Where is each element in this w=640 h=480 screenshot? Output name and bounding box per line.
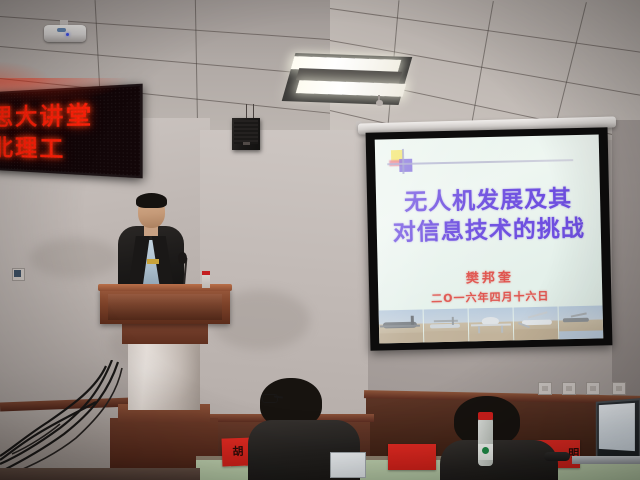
loudspeaker-badge <box>243 142 250 145</box>
sprinkler-head-icon <box>376 100 383 106</box>
wall-outlet-left-socket <box>14 270 21 277</box>
led-banner-spill-light <box>0 78 130 104</box>
water-bottle-cap <box>478 412 493 420</box>
projector-status-led <box>66 33 69 36</box>
wall-outlet-3[interactable] <box>586 382 600 395</box>
table-left-section <box>0 468 200 480</box>
wall-outlet-1[interactable] <box>538 382 552 395</box>
tablet-device[interactable] <box>330 452 366 478</box>
lecture-hall-photo: 思大讲堂 北理工 无人机发展及其 对信息技术的挑战 樊邦奎 二O一六年四月十六日 <box>0 0 640 480</box>
podium-desk-edge <box>98 284 232 291</box>
water-bottle-logo <box>482 447 489 454</box>
projector-lens-icon <box>57 28 66 32</box>
laptop-display-content <box>599 403 635 451</box>
presentation-slide: 无人机发展及其 对信息技术的挑战 樊邦奎 二O一六年四月十六日 <box>375 134 604 343</box>
audience-right-body <box>440 440 558 480</box>
wall-far-right <box>612 120 640 410</box>
laptop-keyboard[interactable] <box>572 456 640 464</box>
wall-outlet-4[interactable] <box>612 382 626 395</box>
loudspeaker-grille <box>234 120 258 144</box>
podium-front-panel <box>108 294 222 320</box>
slide-glare <box>375 134 604 343</box>
projection-screen: 无人机发展及其 对信息技术的挑战 樊邦奎 二O一六年四月十六日 <box>366 127 613 350</box>
podium-bottle[interactable] <box>202 274 210 288</box>
podium-bottle-cap <box>202 271 210 275</box>
namecard-center <box>388 444 436 470</box>
microphone-icon <box>178 252 187 264</box>
wall-outlet-2[interactable] <box>562 382 576 395</box>
presenter-hair <box>136 193 167 208</box>
presenter-badge <box>147 259 159 264</box>
computer-mouse[interactable] <box>544 452 570 461</box>
